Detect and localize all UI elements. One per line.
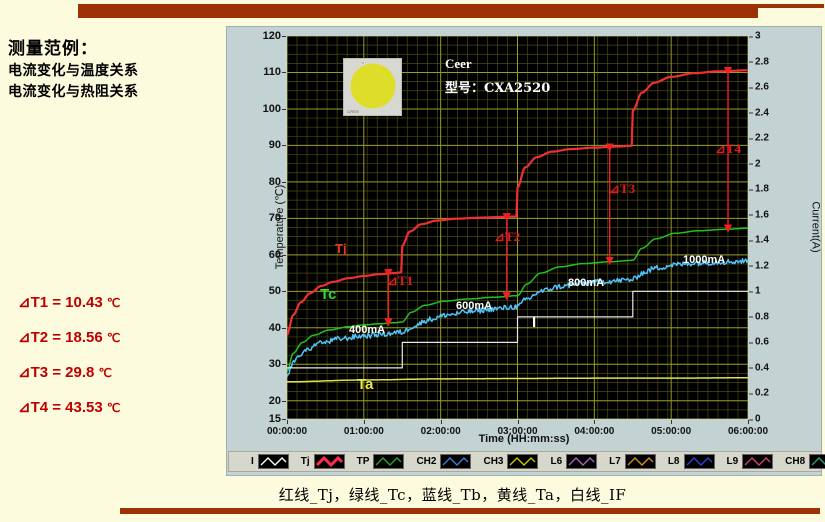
y-tick-right-1.8: 1.8 [755,184,769,195]
top-decorative-bar-thin [758,4,824,8]
delta-t1-unit: ℃ [107,296,120,310]
legend-swatch-tj[interactable] [314,454,345,469]
y-tick-left-60: 60 [269,249,281,261]
legend-swatch-l7[interactable] [625,454,656,469]
top-decorative-bar-thick [78,4,758,18]
y-axis-right-label: Current(A) [810,201,822,252]
legend-swatch-l8[interactable] [684,454,715,469]
y-tick-left-50: 50 [269,285,281,297]
y-tick-left-90: 90 [269,139,281,151]
legend-label-tp: TP [357,456,370,467]
legend-item-ch2[interactable]: CH2 [416,454,471,469]
y-tick-left-120: 120 [263,30,281,42]
legend-label-ch8: CH8 [785,456,805,467]
left-text-column: 测量范例： 电流变化与温度关系 电流变化与热阻关系 [8,38,223,103]
legend-swatch-l9[interactable] [742,454,773,469]
delta-t1-label: ⊿T1 = 10.43 [18,294,103,311]
legend-label-ch2: CH2 [416,456,436,467]
plot-area[interactable]: CREE Ceer 型号：CXA2520 Tj Tc Ta I ⊿T1 ⊿T2 … [287,36,748,419]
legend-item-l6[interactable]: L6 [550,454,597,469]
page-title: 测量范例： [8,38,223,61]
legend-item-tp[interactable]: TP [357,454,405,469]
y-tick-left-100: 100 [263,103,281,115]
legend-label-l8: L8 [668,456,680,467]
y-tick-right-1.2: 1.2 [755,260,769,271]
delta-t4-unit: ℃ [107,401,120,415]
legend-swatch-l6[interactable] [566,454,597,469]
subtitle-line-2: 电流变化与热阻关系 [8,82,223,103]
delta-t2-unit: ℃ [107,331,120,345]
y-tick-right-2.6: 2.6 [755,82,769,93]
y-tick-right-1: 1 [755,286,761,297]
y-tick-left-20: 20 [269,395,281,407]
legend-label-ch3: CH3 [483,456,503,467]
legend-item-l8[interactable]: L8 [668,454,715,469]
delta-t4-label: ⊿T4 = 43.53 [18,399,103,416]
y-tick-right-0: 0 [755,414,761,425]
bottom-decorative-bar [120,508,820,514]
led-product-photo: CREE [343,58,402,116]
y-tick-right-0.4: 0.4 [755,362,769,373]
legend-swatch-ch3[interactable] [507,454,538,469]
caption-text: 红线_Tj，绿线_Tc，蓝线_Tb，黄线_Ta，白线_IF [199,486,627,504]
legend-swatch-ch2[interactable] [440,454,471,469]
delta-t3-label: ⊿T3 = 29.8 [18,364,94,381]
delta-t2-row: ⊿T2 = 18.56 ℃ [18,327,228,362]
legend-swatch-tp[interactable] [373,454,404,469]
y-tick-right-1.4: 1.4 [755,235,769,246]
legend-label-l6: L6 [550,456,562,467]
legend-item-tj[interactable]: Tj [301,454,345,469]
led-emitter-circle [350,63,395,108]
y-tick-right-3: 3 [755,31,761,42]
delta-t3-row: ⊿T3 = 29.8 ℃ [18,362,228,397]
legend-label-l7: L7 [609,456,621,467]
legend-item-i[interactable]: I [251,454,289,469]
legend-swatch-i[interactable] [258,454,289,469]
y-tick-right-0.2: 0.2 [755,388,769,399]
legend-item-l9[interactable]: L9 [727,454,774,469]
delta-t2-label: ⊿T2 = 18.56 [18,329,103,346]
y-tick-left-70: 70 [269,212,281,224]
led-brand-text: CREE [347,109,359,114]
delta-t4-row: ⊿T4 = 43.53 ℃ [18,397,228,432]
y-tick-right-0.8: 0.8 [755,311,769,322]
y-tick-right-2.4: 2.4 [755,107,769,118]
y-tick-right-1.6: 1.6 [755,209,769,220]
plot-area-wrapper: CREE Ceer 型号：CXA2520 Tj Tc Ta I ⊿T1 ⊿T2 … [287,36,748,419]
legend-item-ch3[interactable]: CH3 [483,454,538,469]
y-tick-left-15: 15 [269,413,281,425]
legend-label-tj: Tj [301,456,310,467]
chart-legend[interactable]: ITjTPCH2CH3L6L7L8L9CH8 [228,451,822,472]
y-tick-left-110: 110 [263,66,281,78]
bottom-caption: 红线_Tj，绿线_Tc，蓝线_Tb，黄线_Ta，白线_IF [0,484,825,505]
x-axis-label: Time (HH:mm:ss) [227,433,821,445]
legend-label-l9: L9 [727,456,739,467]
y-tick-right-2: 2 [755,158,761,169]
legend-item-ch8[interactable]: CH8 [785,454,825,469]
legend-item-l7[interactable]: L7 [609,454,656,469]
delta-t3-unit: ℃ [99,366,112,380]
y-tick-right-2.8: 2.8 [755,56,769,67]
y-tick-left-40: 40 [269,322,281,334]
delta-t1-row: ⊿T1 = 10.43 ℃ [18,292,228,327]
y-tick-right-0.6: 0.6 [755,337,769,348]
delta-temperature-list: ⊿T1 = 10.43 ℃ ⊿T2 = 18.56 ℃ ⊿T3 = 29.8 ℃… [18,292,228,432]
legend-label-i: I [251,456,254,467]
y-tick-right-2.2: 2.2 [755,133,769,144]
legend-swatch-ch8[interactable] [809,454,825,469]
chart-panel: Temperature (℃) Current(A) CREE Ceer 型号：… [226,26,822,476]
y-tick-left-80: 80 [269,176,281,188]
subtitle-line-1: 电流变化与温度关系 [8,61,223,82]
y-tick-left-30: 30 [269,358,281,370]
led-photo-dot [362,62,364,64]
